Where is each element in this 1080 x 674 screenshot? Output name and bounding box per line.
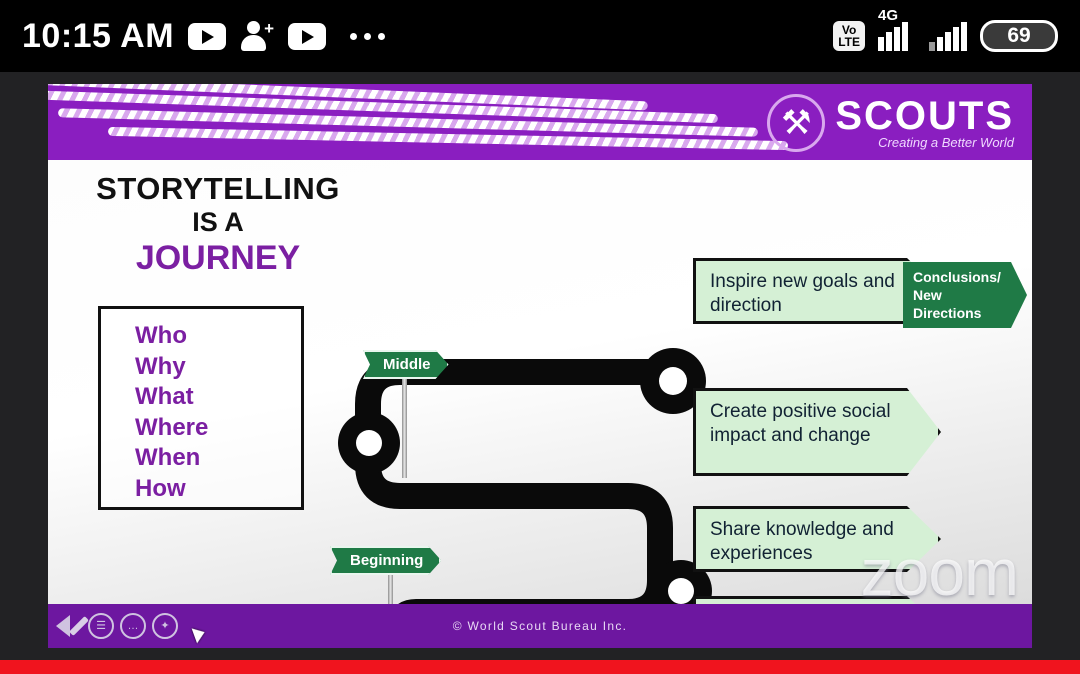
brand-name: SCOUTS xyxy=(835,97,1014,135)
slide-toolbar[interactable]: ☰ … ✦ © World Scout Bureau Inc. xyxy=(48,604,1032,648)
question-word: How xyxy=(135,474,301,505)
volte-line2: LTE xyxy=(838,36,860,48)
callout-create-positive-impact: Create positive social impact and change xyxy=(693,388,941,476)
bottom-red-bar xyxy=(0,660,1080,674)
status-bar: 10:15 AM + Vo LTE 4G 69 xyxy=(0,0,1080,72)
title-line-2: IS A xyxy=(78,206,358,238)
question-word: What xyxy=(135,382,301,413)
title-line-3: JOURNEY xyxy=(78,238,358,278)
scouts-logo: ⚒ SCOUTS Creating a Better World xyxy=(767,94,1014,152)
title-line-1: STORYTELLING xyxy=(78,172,358,206)
volte-icon: Vo LTE xyxy=(833,21,865,51)
conclusions-line-2: New Directions xyxy=(913,286,1001,322)
youtube-icon-2 xyxy=(288,23,326,50)
clock: 10:15 AM xyxy=(22,17,174,56)
youtube-icon xyxy=(188,23,226,50)
question-words-box: Who Why What Where When How xyxy=(98,306,304,510)
fleur-de-lis-icon: ⚒ xyxy=(767,94,825,152)
battery-icon: 69 xyxy=(980,20,1058,52)
middle-signpost-pole xyxy=(402,368,407,478)
phone-screen: 10:15 AM + Vo LTE 4G 69 xyxy=(0,0,1080,674)
signpost-conclusions: Conclusions/ New Directions xyxy=(903,262,1027,328)
status-bar-left: 10:15 AM + xyxy=(22,17,385,56)
slide-body: STORYTELLING IS A JOURNEY Who Why What W… xyxy=(48,160,1032,604)
person-body xyxy=(241,35,266,51)
presentation-slide[interactable]: ⚒ SCOUTS Creating a Better World STORYTE… xyxy=(48,84,1032,648)
question-word: Why xyxy=(135,352,301,383)
page-title: STORYTELLING IS A JOURNEY xyxy=(78,172,358,278)
signpost-beginning: Beginning xyxy=(330,546,441,575)
person-add-icon: + xyxy=(240,20,274,52)
question-word: Who xyxy=(135,321,301,352)
status-bar-right: Vo LTE 4G 69 xyxy=(833,20,1058,52)
signal-icon-sim1: 4G xyxy=(878,21,916,51)
conclusions-line-1: Conclusions/ xyxy=(913,268,1001,286)
brand-tagline: Creating a Better World xyxy=(835,135,1014,150)
network-type-label: 4G xyxy=(878,7,898,24)
question-word: When xyxy=(135,443,301,474)
zoom-watermark: zoom xyxy=(861,534,1018,610)
person-head xyxy=(247,21,260,34)
battery-percent: 69 xyxy=(1007,24,1030,48)
overflow-dots-icon xyxy=(350,33,385,40)
signal-icon-sim2 xyxy=(929,21,967,51)
signpost-middle: Middle xyxy=(363,350,449,379)
slide-header: ⚒ SCOUTS Creating a Better World xyxy=(48,84,1032,160)
plus-glyph: + xyxy=(264,24,274,34)
question-word: Where xyxy=(135,413,301,444)
path-node-3 xyxy=(338,412,400,474)
